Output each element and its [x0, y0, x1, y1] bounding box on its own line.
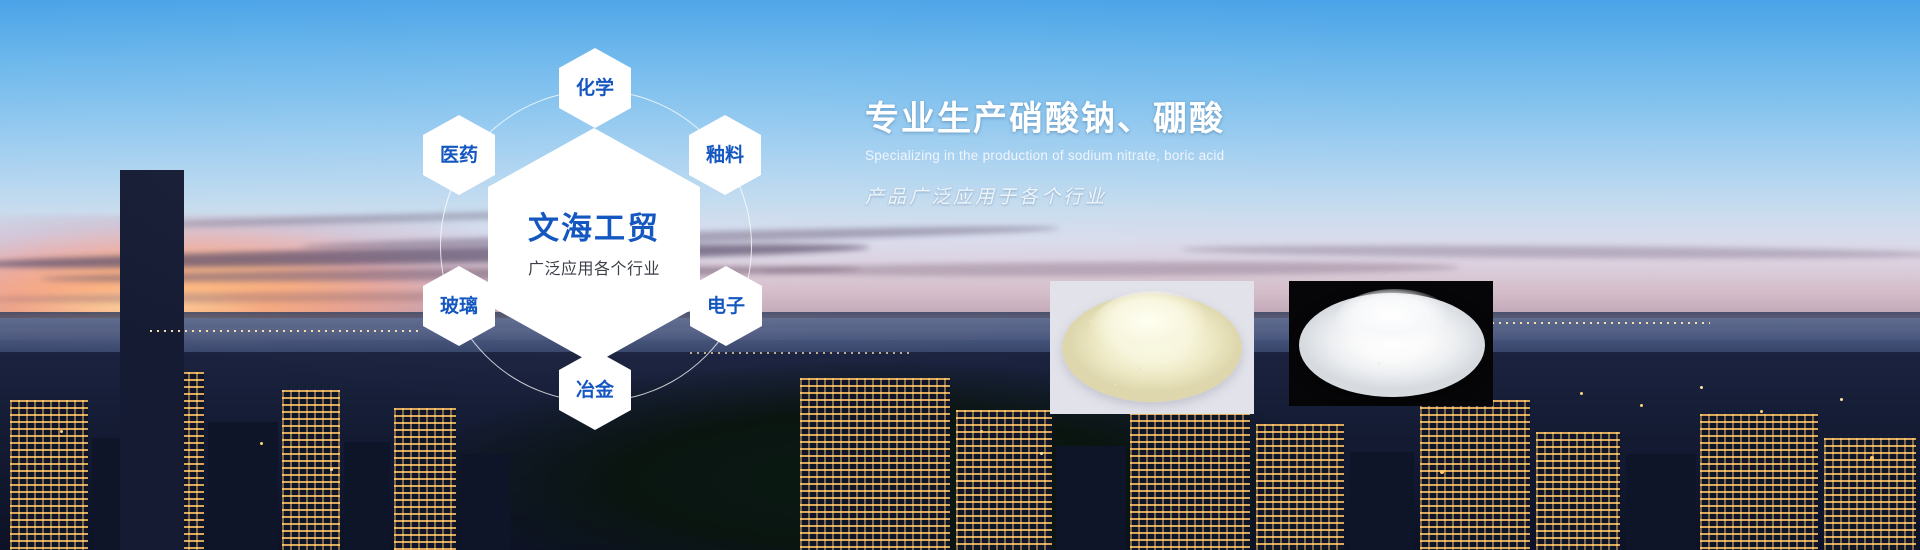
company-name: 文海工贸 — [528, 213, 660, 244]
company-tagline: 广泛应用各个行业 — [528, 255, 660, 279]
powder-grain-texture — [1289, 281, 1493, 406]
hex-node-label: 釉料 — [706, 146, 744, 165]
powder-grain-texture — [1050, 281, 1254, 414]
headline-block: 专业生产硝酸钠、硼酸 Specializing in the productio… — [865, 100, 1565, 209]
tagline: 产品广泛应用于各个行业 — [865, 182, 1565, 209]
industry-hexagon-diagram: 化学 釉料 电子 冶金 玻璃 医药 文海工贸 广泛应用各个行业 — [0, 0, 1000, 550]
headline: 专业生产硝酸钠、硼酸 — [865, 100, 1565, 139]
promo-banner: 化学 釉料 电子 冶金 玻璃 医药 文海工贸 广泛应用各个行业 专业生产硝酸钠、… — [0, 0, 1920, 550]
hex-node-label: 电子 — [707, 297, 745, 316]
headline-english: Specializing in the production of sodium… — [865, 148, 1565, 163]
product-photo-sodium-nitrate — [1050, 281, 1254, 414]
product-photo-boric-acid — [1289, 281, 1493, 406]
hex-node-label: 医药 — [440, 146, 478, 165]
hex-node-label: 冶金 — [576, 381, 614, 400]
hex-node-label: 化学 — [576, 79, 614, 98]
hex-node-label: 玻璃 — [440, 297, 478, 316]
